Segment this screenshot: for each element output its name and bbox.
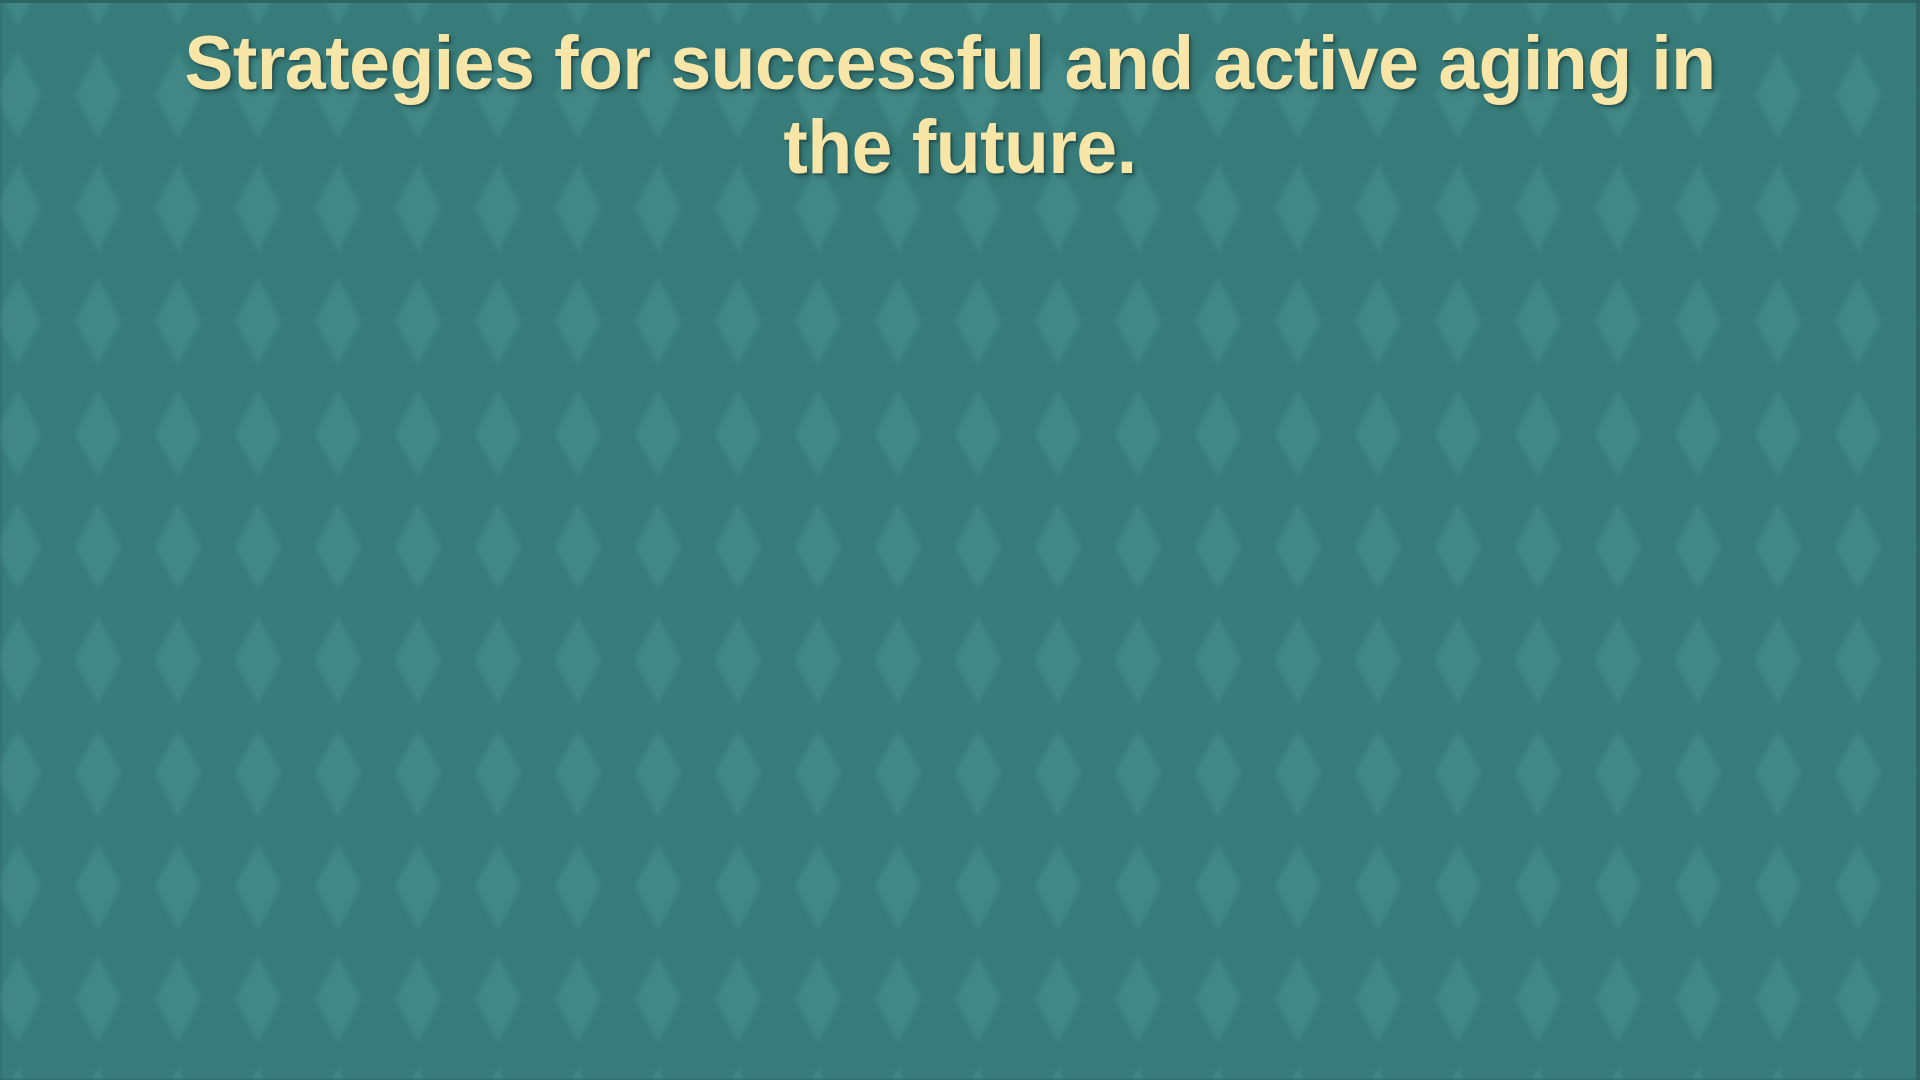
presentation-slide: Strategies for successful and active agi… (0, 0, 1920, 1080)
slide-content-area (90, 230, 1830, 1010)
slide-title: Strategies for successful and active agi… (82, 22, 1838, 190)
slide-right-edge (1916, 0, 1920, 1080)
slide-title-line-2: the future. (82, 106, 1838, 190)
slide-left-edge (0, 0, 2, 1080)
slide-top-edge (0, 0, 1920, 3)
title-block: Strategies for successful and active agi… (50, 22, 1870, 190)
slide-title-line-1: Strategies for successful and active agi… (184, 21, 1715, 106)
